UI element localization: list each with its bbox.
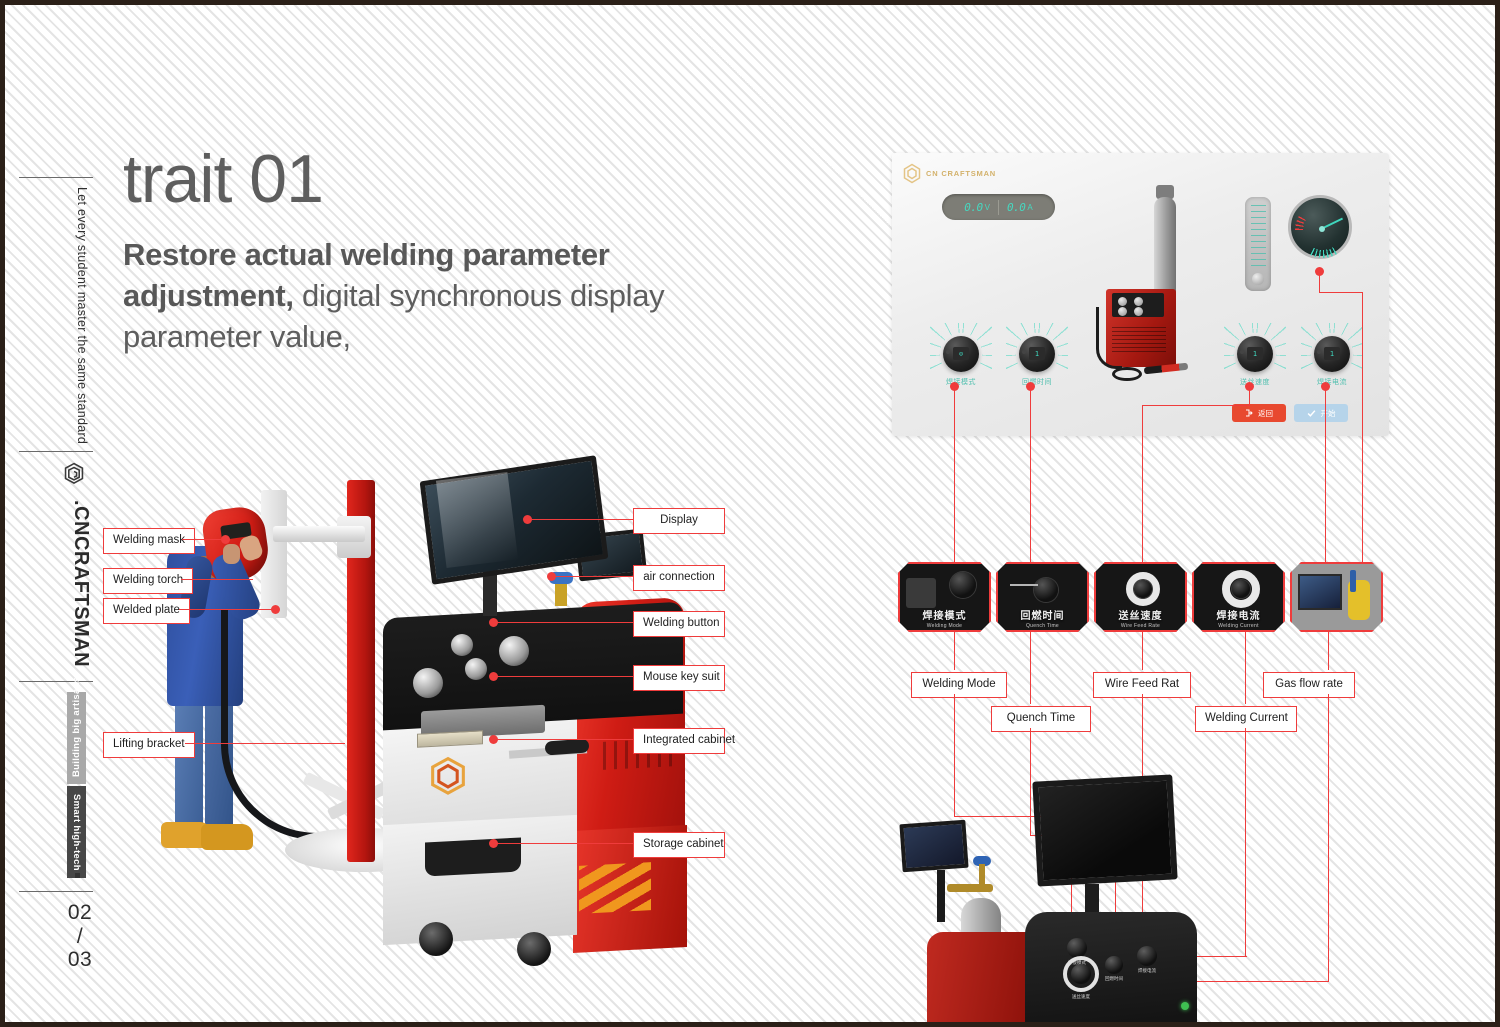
- torch-coil: [1112, 367, 1142, 381]
- start-button[interactable]: 开始: [1294, 404, 1348, 422]
- welder-dial-4: [1134, 307, 1143, 316]
- rail-divider-1: [19, 177, 93, 178]
- connector-gas-flow-b: [1319, 292, 1363, 293]
- thumbnail-wire-feed[interactable]: 送丝速度 Wire Feed Rate: [1094, 562, 1187, 632]
- lead-welded-plate: [179, 609, 275, 610]
- dot-mouse-key-suit: [489, 672, 498, 681]
- welder-cable: [1096, 307, 1122, 369]
- dot-welded-plate: [271, 605, 280, 614]
- thumb-knob-wire-feed: [1134, 580, 1152, 598]
- brochure-page: Let every student master the same standa…: [0, 0, 1500, 1027]
- storage-cabinet-body: [383, 815, 577, 945]
- brand-name-text: .CNCRAFTSMAN: [69, 500, 92, 667]
- cabinet-warning-stripes: [579, 862, 651, 914]
- connector-thumb-quench-time: [1030, 632, 1031, 704]
- thumb-en-label-welding-mode: Welding Mode: [900, 623, 989, 629]
- connector-gas-flow-a: [1319, 275, 1320, 293]
- dot-welding-mask: [221, 535, 230, 544]
- knob-value-welding-current: 1: [1324, 347, 1340, 360]
- voltage-value: 0.0: [964, 201, 982, 214]
- connector-wire-feed-b: [1142, 405, 1250, 406]
- current-unit: A: [1027, 203, 1032, 212]
- thumb-operator-torch: [1350, 570, 1356, 592]
- connector-welding-mode: [954, 390, 955, 562]
- bottom-knob-quench-time[interactable]: [1105, 956, 1123, 974]
- checkmark-icon: [1307, 409, 1316, 418]
- flow-meter-scale: [1251, 205, 1266, 271]
- thumb-operator-screen: [1298, 574, 1342, 610]
- thumb-cn-label-wire-feed: 送丝速度: [1096, 607, 1185, 622]
- callout-air-connection: air connection: [633, 565, 725, 591]
- knob-value-welding-mode: ⊙: [953, 347, 969, 360]
- knob-label-wire-feed-rate: 送丝速度: [1220, 377, 1290, 387]
- knob-label-welding-mode: 焊接模式: [926, 377, 996, 387]
- welder-dial-1: [1118, 297, 1127, 306]
- knob-quench-time[interactable]: 1: [1019, 336, 1055, 372]
- cabinet-knob-1[interactable]: [413, 668, 443, 698]
- callout-welding-mode: Welding Mode: [911, 672, 1007, 698]
- thumb-knob-quench-time: [1034, 578, 1058, 602]
- dot-display: [523, 515, 532, 524]
- lead-lifting-bracket: [185, 743, 345, 744]
- student-hand-right: [223, 544, 240, 564]
- tagline-text: Let every student master the same standa…: [75, 187, 89, 444]
- left-vertical-rail: Let every student master the same standa…: [13, 5, 101, 1022]
- lead-air-connection: [553, 576, 633, 577]
- connector-thumb-wire-feed: [1142, 632, 1143, 670]
- callout-welded-plate: Welded plate: [103, 598, 190, 624]
- sim-brand-logo-icon: [902, 163, 922, 185]
- lead-integrated-cabinet: [495, 739, 633, 740]
- lead-display: [529, 519, 633, 520]
- dot-storage-cabinet: [489, 839, 498, 848]
- connector-gas-flow-c: [1362, 292, 1363, 562]
- thumb-en-label-quench-time: Quench Time: [998, 623, 1087, 629]
- caster-wheel-2: [517, 932, 551, 966]
- pressure-gauge: [1288, 195, 1352, 259]
- lead-welding-torch: [181, 579, 253, 580]
- connector-thumb-welding-current: [1245, 632, 1246, 704]
- student-leg-left: [175, 698, 203, 828]
- thumb-knob-welding-mode: [950, 572, 976, 598]
- callout-quench-time: Quench Time: [991, 706, 1091, 732]
- start-button-label: 开始: [1321, 408, 1336, 419]
- callout-gas-flow-rate: Gas flow rate: [1263, 672, 1355, 698]
- bottom-knob-wire-feed[interactable]: [1071, 964, 1091, 984]
- cncraftsman-logo-icon: [61, 461, 87, 487]
- knob-welding-current[interactable]: 1: [1314, 336, 1350, 372]
- gas-valve-stem: [979, 864, 985, 886]
- voltage-unit: V: [985, 203, 990, 212]
- thumb-knob-welding-current: [1232, 580, 1250, 598]
- thumb-cn-label-welding-current: 焊接电流: [1194, 607, 1283, 622]
- welder-illustration: [1092, 185, 1222, 400]
- thumb-lever: [1010, 584, 1038, 586]
- lifting-bracket-arm: [273, 526, 365, 542]
- callout-mouse-key-suit: Mouse key suit: [633, 665, 725, 691]
- callout-welding-torch: Welding torch: [103, 568, 193, 594]
- caster-wheel-1: [419, 922, 453, 956]
- page-subtitle: Restore actual welding parameter adjustm…: [123, 235, 683, 358]
- badge-smart-high-tech: Smart high-tech: [67, 786, 86, 878]
- knob-value-quench-time: 1: [1029, 347, 1045, 360]
- callout-display: Display: [633, 508, 725, 534]
- bottom-secondary-monitor-arm: [937, 870, 945, 922]
- headline-block: trait 01 Restore actual welding paramete…: [123, 145, 683, 358]
- bottom-knob-welding-current[interactable]: [1137, 946, 1157, 966]
- lead-welding-button: [495, 622, 633, 623]
- callout-welding-button: Welding button: [633, 611, 725, 637]
- parameter-readout-display: 0.0 V 0.0 A: [942, 194, 1055, 220]
- connector-welding-current: [1325, 390, 1326, 562]
- lead-mouse-key-suit: [495, 676, 633, 677]
- exit-arrow-icon: [1245, 409, 1253, 417]
- rail-divider-4: [19, 891, 93, 892]
- flow-meter-float: [1252, 273, 1264, 285]
- page-total: 03: [57, 948, 103, 972]
- return-button[interactable]: 返回: [1232, 404, 1286, 422]
- welder-dial-2: [1134, 297, 1143, 306]
- thumb-en-label-wire-feed: Wire Feed Rate: [1096, 623, 1185, 629]
- knob-label-quench-time: 回燃时间: [1002, 377, 1072, 387]
- thumb-bg-shape: [906, 578, 936, 608]
- page-title: trait 01: [123, 145, 683, 213]
- page-current: 02: [57, 901, 103, 925]
- cabinet-knob-2[interactable]: [465, 658, 487, 680]
- bottom-knob-label-wire-feed: 送丝速度: [1059, 994, 1103, 1000]
- knob-value-wire-feed-rate: 1: [1247, 347, 1263, 360]
- cabinet-knob-3[interactable]: [499, 636, 529, 666]
- readout-separator: [998, 200, 999, 215]
- control-panel-photo: 焊接模式 回燃时间 送丝速度 焊接电流: [885, 760, 1385, 1027]
- callout-integrated-cabinet: Integrated cabinet: [633, 728, 725, 754]
- bottom-knob-label-welding-current: 焊接电流: [1125, 968, 1169, 974]
- bottom-secondary-monitor: [899, 820, 968, 872]
- connector-wire-feed-a: [1249, 390, 1250, 406]
- thumb-en-label-welding-current: Welding Current: [1194, 623, 1283, 629]
- cabinet-brand-logo-icon: [425, 754, 471, 800]
- connector-quench-time: [1030, 390, 1031, 562]
- bottom-main-monitor: [1032, 774, 1177, 886]
- connector-thumb-gas-flow: [1328, 632, 1329, 670]
- connector-wire-feed-c: [1142, 405, 1143, 562]
- dot-air-connection: [547, 572, 556, 581]
- thumbnail-welding-mode[interactable]: 焊接模式 Welding Mode: [898, 562, 991, 632]
- page-separator: /: [57, 925, 103, 949]
- gas-flow-meter: [1245, 197, 1271, 291]
- rail-divider-2: [19, 451, 93, 452]
- page-number: 02 / 03: [57, 901, 103, 972]
- thumb-cn-label-quench-time: 回燃时间: [998, 607, 1087, 622]
- badge-building-big-artisans: Building big artisans: [67, 692, 86, 784]
- knob-wire-feed-rate[interactable]: 1: [1237, 336, 1273, 372]
- connector-thumb-welding-mode: [954, 632, 955, 670]
- callout-lifting-bracket: Lifting bracket: [103, 732, 195, 758]
- thumbnail-operator[interactable]: [1290, 562, 1383, 632]
- current-value: 0.0: [1007, 201, 1025, 214]
- welding-torch-cable: [221, 610, 351, 840]
- thumbnail-quench-time[interactable]: 回燃时间 Quench Time: [996, 562, 1089, 632]
- display-glare: [436, 472, 518, 568]
- sim-brand-text: CN CRAFTSMAN: [926, 169, 996, 178]
- callout-welding-mask: Welding mask: [103, 528, 195, 554]
- dot-welding-button: [489, 618, 498, 627]
- thumbnail-welding-current[interactable]: 焊接电流 Welding Current: [1192, 562, 1285, 632]
- callout-storage-cabinet: Storage cabinet: [633, 832, 725, 858]
- bottom-knob-welding-mode[interactable]: [1067, 938, 1087, 958]
- badge-notch-bottom: [75, 873, 80, 878]
- knob-label-welding-current: 焊接电流: [1297, 377, 1367, 387]
- cabinet-knob-4[interactable]: [451, 634, 473, 656]
- knob-welding-mode[interactable]: ⊙: [943, 336, 979, 372]
- gauge-hub: [1319, 226, 1325, 232]
- main-product-photo: [125, 460, 665, 970]
- dot-integrated-cabinet: [489, 735, 498, 744]
- student-shoe-right: [201, 824, 253, 850]
- bottom-cabinet-red: [927, 932, 1037, 1022]
- simulator-screen-panel: CN CRAFTSMAN 0.0 V 0.0 A: [892, 153, 1389, 436]
- power-led-indicator: [1181, 1002, 1189, 1010]
- lead-storage-cabinet: [495, 843, 633, 844]
- gas-regulator-arm: [947, 884, 993, 892]
- return-button-label: 返回: [1258, 408, 1273, 419]
- thumb-cn-label-welding-mode: 焊接模式: [900, 607, 989, 622]
